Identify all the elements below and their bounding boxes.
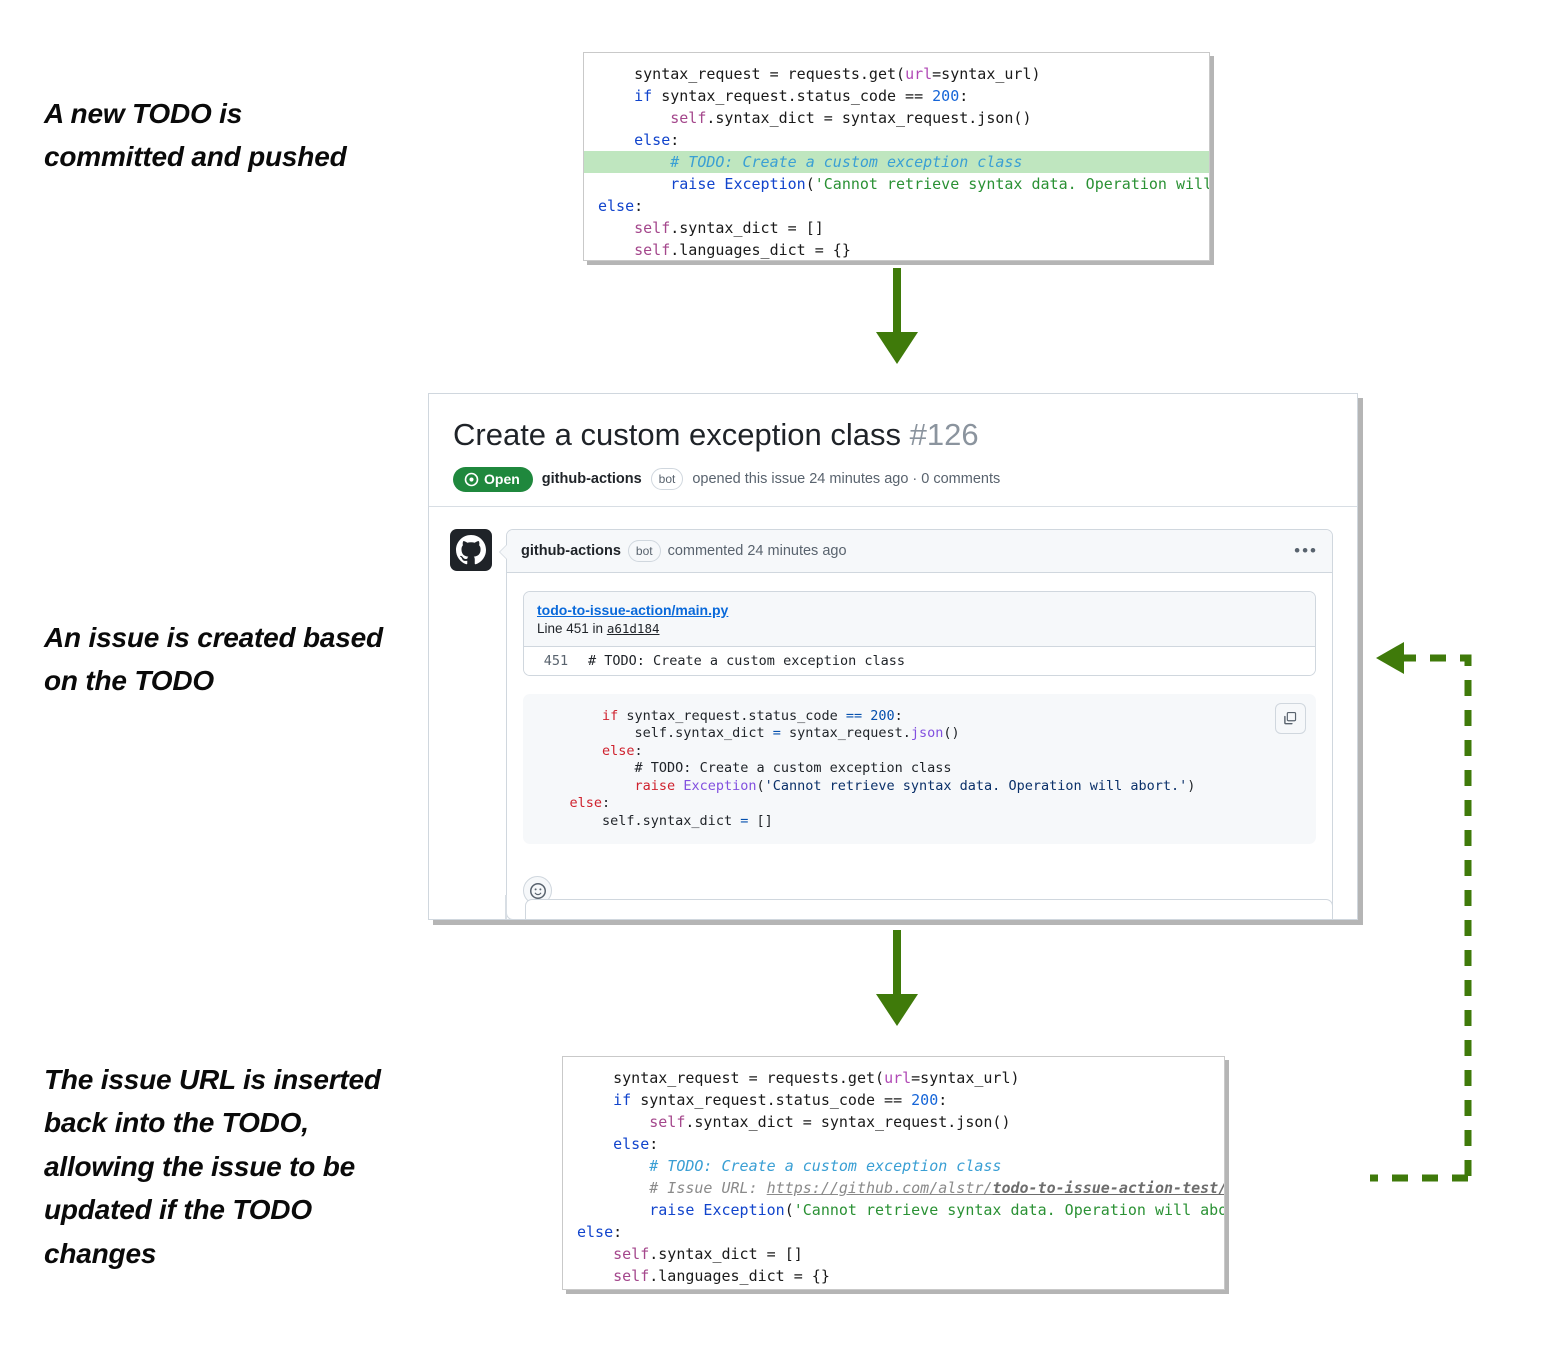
issue-open-icon — [464, 472, 479, 487]
permalink-line-info: Line 451 in a61d184 — [537, 621, 660, 636]
code-line: self.syntax_dict = syntax_request.json() — [563, 1111, 1224, 1133]
page-title: Create a custom exception class #126 — [453, 416, 1333, 455]
snippet-code: if syntax_request.status_code == 200: se… — [537, 708, 1302, 831]
code-token: .syntax_dict = [] — [670, 219, 824, 237]
code-token: self — [613, 1267, 649, 1285]
code-token: if — [634, 87, 652, 105]
kebab-menu-icon[interactable]: ••• — [1294, 542, 1318, 559]
code-token: [] — [748, 813, 772, 829]
code-token: ) — [1187, 778, 1195, 794]
permalink-header: todo-to-issue-action/main.py Line 451 in… — [524, 592, 1315, 647]
code-token: == — [846, 708, 862, 724]
issue-number: #126 — [910, 417, 979, 452]
issue-header: Create a custom exception class #126 Ope… — [429, 394, 1357, 507]
code-line: if syntax_request.status_code == 200: — [563, 1089, 1224, 1111]
code-token: syntax_request = requests.get( — [634, 65, 905, 83]
permalink-line-label: Line 451 in — [537, 621, 607, 636]
code-line: self.syntax_dict = [] — [563, 1243, 1224, 1265]
code-line: syntax_request = requests.get(url=syntax… — [563, 1067, 1224, 1089]
flow-arrow-down-1 — [866, 268, 928, 366]
code-token: : — [670, 131, 679, 149]
line-number: 451 — [524, 653, 588, 669]
code-token: Exception — [715, 175, 805, 193]
permalink-commit-sha[interactable]: a61d184 — [607, 621, 660, 636]
code-token: : — [895, 708, 903, 724]
code-permalink-snippet: todo-to-issue-action/main.py Line 451 in… — [523, 591, 1316, 676]
code-token: ( — [785, 1201, 794, 1219]
code-line: raise Exception('Cannot retrieve syntax … — [584, 173, 1209, 195]
code-line: else: — [563, 1133, 1224, 1155]
code-token: syntax_request.status_code — [618, 708, 846, 724]
code-line: self.syntax_dict = [] — [584, 217, 1209, 239]
issue-meta: Open github-actions bot opened this issu… — [453, 467, 1333, 492]
code-token: raise — [649, 1201, 694, 1219]
code-token: if — [613, 1091, 631, 1109]
code-token: syntax_request.status_code == — [652, 87, 932, 105]
avatar[interactable] — [450, 529, 492, 571]
code-token: url — [884, 1069, 911, 1087]
code-line: else: — [584, 129, 1209, 151]
code-token: ( — [756, 778, 764, 794]
code-token: .languages_dict = {} — [649, 1267, 830, 1285]
bot-badge: bot — [651, 468, 684, 490]
issue-url-link-path[interactable]: todo-to-issue-action-test/issues/126 — [992, 1179, 1225, 1197]
caption-step-1: A new TODO is committed and pushed — [44, 92, 374, 179]
feedback-loop-arrow — [1370, 640, 1530, 1200]
flow-arrow-down-2 — [866, 930, 928, 1028]
line-code: # TODO: Create a custom exception class — [588, 653, 905, 669]
code-token: : — [613, 1223, 622, 1241]
code-token: ( — [806, 175, 815, 193]
code-token: else — [570, 795, 603, 811]
code-token: else — [613, 1135, 649, 1153]
code-token: 'Cannot retrieve syntax data. Operation … — [794, 1201, 1225, 1219]
code-token: # Issue URL: — [649, 1179, 766, 1197]
code-line: syntax_request = requests.get(url=syntax… — [584, 63, 1209, 85]
issue-author[interactable]: github-actions — [542, 471, 642, 487]
code-token: self.syntax_dict — [602, 725, 773, 741]
code-token: self — [670, 109, 706, 127]
code-line: self.languages_dict = {} — [584, 239, 1209, 261]
code-token: json — [911, 725, 944, 741]
code-token: else — [577, 1223, 613, 1241]
code-token: = — [773, 725, 781, 741]
issue-meta-text: opened this issue 24 minutes ago · 0 com… — [692, 471, 1000, 487]
fenced-code-block: if syntax_request.status_code == 200: se… — [523, 694, 1316, 845]
code-token: Exception — [675, 778, 756, 794]
comment-author[interactable]: github-actions — [521, 543, 621, 559]
comment-meta-text: commented 24 minutes ago — [668, 543, 847, 559]
copy-icon — [1283, 711, 1298, 726]
status-badge-label: Open — [484, 472, 520, 486]
timeline-stub — [505, 895, 1333, 920]
status-badge[interactable]: Open — [453, 467, 533, 492]
code-token: 200 — [932, 87, 959, 105]
code-token: else — [598, 197, 634, 215]
todo-comment-token: # TODO: Create a custom exception class — [649, 1157, 1001, 1175]
issue-url-link[interactable]: https://github.com/alstr/ — [767, 1179, 993, 1197]
code-line: raise Exception('Cannot retrieve syntax … — [563, 1199, 1224, 1221]
code-token: 'Cannot retrieve syntax data. Operation … — [765, 778, 1188, 794]
github-issue-card: Create a custom exception class #126 Ope… — [428, 393, 1358, 920]
code-token: : — [938, 1091, 947, 1109]
code-line-issue-url: # Issue URL: https://github.com/alstr/to… — [563, 1177, 1224, 1199]
code-token: .syntax_dict = syntax_request.json() — [706, 109, 1031, 127]
todo-comment-token: # TODO: Create a custom exception class — [670, 153, 1022, 171]
code-token: =syntax_url) — [911, 1069, 1019, 1087]
code-line: self.syntax_dict = syntax_request.json() — [584, 107, 1209, 129]
code-token: syntax_request. — [781, 725, 911, 741]
code-token: .languages_dict = {} — [670, 241, 851, 259]
code-token: self — [613, 1245, 649, 1263]
code-token: self.syntax_dict — [570, 813, 741, 829]
code-token: Exception — [694, 1201, 784, 1219]
code-token: : — [959, 87, 968, 105]
code-screenshot-after: syntax_request = requests.get(url=syntax… — [562, 1056, 1225, 1290]
caption-step-2: An issue is created based on the TODO — [44, 616, 394, 703]
comment-container: github-actions bot commented 24 minutes … — [429, 507, 1357, 920]
code-token: self — [634, 219, 670, 237]
bot-badge: bot — [628, 540, 661, 562]
code-token: else — [634, 131, 670, 149]
permalink-code-row: 451 # TODO: Create a custom exception cl… — [524, 647, 1315, 675]
code-token: =syntax_url) — [932, 65, 1040, 83]
code-token: 200 — [862, 708, 895, 724]
code-token: syntax_request.status_code == — [631, 1091, 911, 1109]
github-logo-icon — [456, 535, 486, 565]
code-token: else — [602, 743, 635, 759]
issue-title-text: Create a custom exception class — [453, 417, 901, 452]
code-token: self — [649, 1113, 685, 1131]
code-line: # TODO: Create a custom exception class — [563, 1155, 1224, 1177]
code-token: : — [649, 1135, 658, 1153]
comment-body: todo-to-issue-action/main.py Line 451 in… — [507, 573, 1332, 872]
code-token: : — [635, 743, 643, 759]
permalink-file-link[interactable]: todo-to-issue-action/main.py — [537, 601, 1302, 620]
code-line: else: — [563, 1221, 1224, 1243]
comment-header: github-actions bot commented 24 minutes … — [507, 530, 1332, 573]
copy-button[interactable] — [1275, 703, 1306, 734]
code-token: raise — [602, 778, 675, 794]
code-token: syntax_request = requests.get( — [613, 1069, 884, 1087]
code-screenshot-before: syntax_request = requests.get(url=syntax… — [583, 52, 1210, 261]
code-line: else: — [584, 195, 1209, 217]
code-line-highlighted: # TODO: Create a custom exception class — [584, 151, 1209, 173]
code-token: .syntax_dict = syntax_request.json() — [685, 1113, 1010, 1131]
timeline-stub-box — [525, 899, 1333, 920]
code-token: 'Cannot retrieve syntax data. Operation … — [815, 175, 1210, 193]
comment-box: github-actions bot commented 24 minutes … — [506, 529, 1333, 920]
code-token: : — [634, 197, 643, 215]
code-token: url — [905, 65, 932, 83]
code-line: if syntax_request.status_code == 200: — [584, 85, 1209, 107]
code-token: if — [602, 708, 618, 724]
code-token: self — [634, 241, 670, 259]
code-token: 200 — [911, 1091, 938, 1109]
code-token: .syntax_dict = [] — [649, 1245, 803, 1263]
code-line: self.languages_dict = {} — [563, 1265, 1224, 1287]
code-token: raise — [670, 175, 715, 193]
code-token: () — [943, 725, 959, 741]
caption-step-3: The issue URL is inserted back into the … — [44, 1058, 424, 1275]
code-token: # TODO: Create a custom exception class — [602, 760, 952, 776]
code-token: : — [602, 795, 610, 811]
